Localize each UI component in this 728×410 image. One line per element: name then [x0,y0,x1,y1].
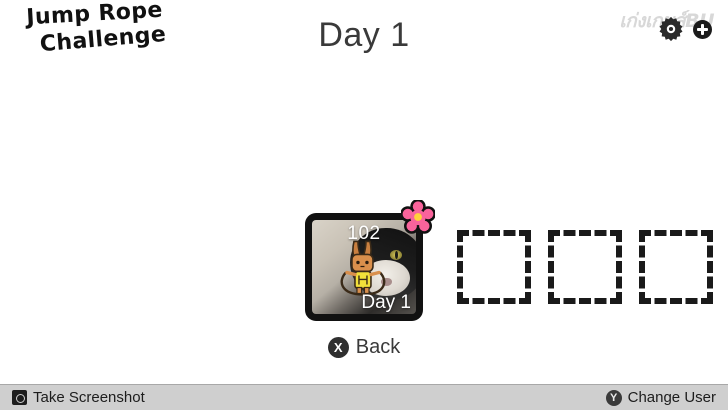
capture-icon [12,390,27,405]
x-button-icon: X [328,337,349,358]
empty-day-slot[interactable] [548,230,622,304]
add-user-button[interactable] [693,20,712,39]
take-screenshot-label: Take Screenshot [33,389,145,406]
header-actions [658,16,712,42]
empty-day-slot[interactable] [639,230,713,304]
back-button[interactable]: X Back [305,336,423,359]
change-user-label: Change User [628,389,716,406]
flower-badge-icon [401,200,435,234]
gear-icon [658,16,684,42]
day-photo-card[interactable]: 102 Day 1 [305,213,423,321]
take-screenshot-button[interactable]: Take Screenshot [12,389,145,406]
back-label: Back [356,336,400,359]
game-screen: Jump Rope Challenge Day 1 เก่งเกมส์BU [0,0,728,410]
bottom-bar: Take Screenshot Y Change User [0,384,728,410]
cat-photo-eye [390,250,402,260]
card-day-label: Day 1 [361,292,411,313]
y-button-icon: Y [606,390,622,406]
settings-button[interactable] [658,16,684,42]
page-title: Day 1 [0,16,728,55]
day-photo: 102 Day 1 [312,220,416,314]
empty-day-slot[interactable] [457,230,531,304]
day-cards-row: 102 Day 1 [305,212,713,322]
change-user-button[interactable]: Y Change User [606,389,716,406]
